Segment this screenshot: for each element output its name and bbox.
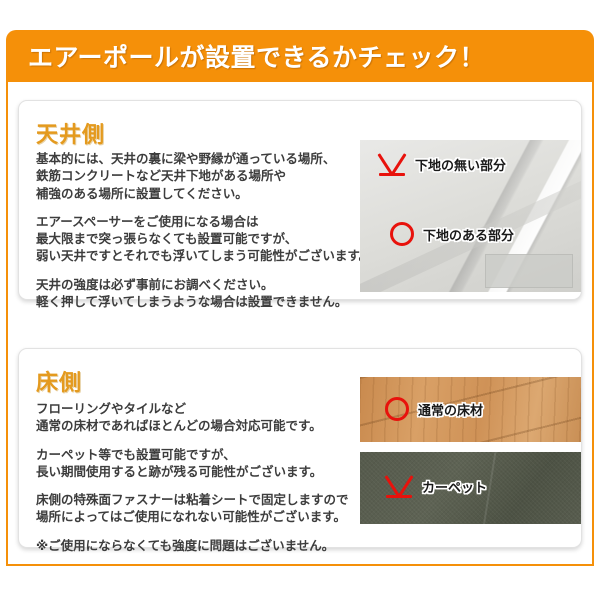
floor-section-text: フローリングやタイルなど 通常の床材であればほとんどの場合対応可能です。 カーペ…	[36, 401, 366, 555]
triangle-icon	[385, 474, 413, 498]
marker-normal-flooring: 通常の床材	[385, 397, 483, 421]
text-line: 最大限まで突っ張らなくても設置可能ですが、	[36, 231, 366, 248]
text-line: 基本的には、天井の裏に梁や野縁が通っている場所、	[36, 151, 366, 168]
text-line: カーペット等でも設置可能ですが、	[36, 447, 366, 464]
text-line: 天井の強度は必ず事前にお調べください。	[36, 277, 366, 294]
floor-section-heading: 床側	[36, 365, 82, 397]
ceiling-section-text: 基本的には、天井の裏に梁や野縁が通っている場所、 鉄筋コンクリートなど天井下地が…	[36, 151, 366, 311]
text-line: 補強のある場所に設置してください。	[36, 186, 366, 203]
text-line: 弱い天井ですとそれでも浮いてしまう可能性がございます。	[36, 248, 366, 265]
page-root: エアーポールが設置できるかチェック！ 天井側 基本的には、天井の裏に梁や野縁が通…	[0, 0, 600, 600]
circle-icon	[385, 397, 409, 421]
marker-no-base-label: 下地の無い部分	[415, 155, 506, 174]
marker-carpet-label: カーペット	[422, 477, 487, 496]
ceiling-photo: 下地の無い部分 下地のある部分	[360, 140, 581, 292]
ceiling-section-heading: 天井側	[36, 117, 105, 149]
triangle-icon	[378, 152, 406, 176]
text-line: 場所によってはご使用になれない可能性がございます。	[36, 509, 366, 526]
ceiling-fixture-shape	[485, 254, 573, 288]
circle-icon	[390, 222, 414, 246]
carpet-photo: カーペット	[360, 452, 581, 524]
header-banner: エアーポールが設置できるかチェック！	[6, 30, 594, 82]
text-line: 長い期間使用すると跡が残る可能性がございます。	[36, 464, 366, 481]
text-line: 床側の特殊面ファスナーは粘着シートで固定しますので	[36, 492, 366, 509]
ceiling-paragraph-1: 基本的には、天井の裏に梁や野縁が通っている場所、 鉄筋コンクリートなど天井下地が…	[36, 151, 366, 203]
text-line: ※ご使用にならなくても強度に問題はございません。	[36, 538, 366, 555]
marker-normal-flooring-label: 通常の床材	[418, 400, 483, 419]
text-line: フローリングやタイルなど	[36, 401, 366, 418]
marker-has-base: 下地のある部分	[390, 222, 514, 246]
floor-paragraph-1: フローリングやタイルなど 通常の床材であればほとんどの場合対応可能です。	[36, 401, 366, 436]
page-title: エアーポールが設置できるかチェック！	[6, 38, 485, 74]
floor-paragraph-4: ※ご使用にならなくても強度に問題はございません。	[36, 538, 366, 555]
text-line: 通常の床材であればほとんどの場合対応可能です。	[36, 418, 366, 435]
marker-no-base: 下地の無い部分	[378, 152, 506, 176]
floor-paragraph-2: カーペット等でも設置可能ですが、 長い期間使用すると跡が残る可能性がございます。	[36, 447, 366, 482]
wood-floor-photo: 通常の床材	[360, 377, 581, 442]
text-line: エアースペーサーをご使用になる場合は	[36, 214, 366, 231]
marker-has-base-label: 下地のある部分	[423, 225, 514, 244]
ceiling-paragraph-2: エアースペーサーをご使用になる場合は 最大限まで突っ張らなくても設置可能ですが、…	[36, 214, 366, 266]
marker-carpet: カーペット	[385, 474, 487, 498]
text-line: 軽く押して浮いてしまうような場合は設置できません。	[36, 294, 366, 311]
ceiling-paragraph-3: 天井の強度は必ず事前にお調べください。 軽く押して浮いてしまうような場合は設置で…	[36, 277, 366, 312]
text-line: 鉄筋コンクリートなど天井下地がある場所や	[36, 168, 366, 185]
floor-paragraph-3: 床側の特殊面ファスナーは粘着シートで固定しますので 場所によってはご使用になれな…	[36, 492, 366, 527]
